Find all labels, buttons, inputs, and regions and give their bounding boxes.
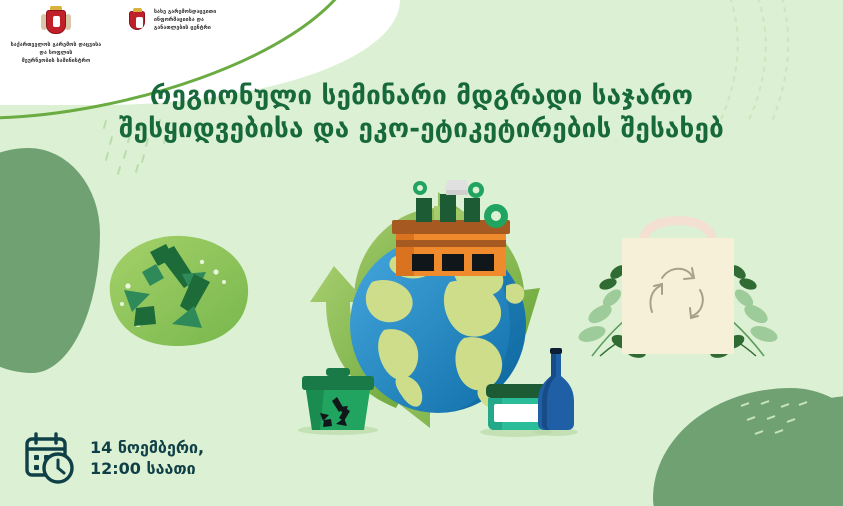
factory-icon <box>392 180 510 276</box>
date-line2: 12:00 საათი <box>90 458 204 479</box>
poster-canvas: საქართველოს გარემოს დაცვისა და სოფლის მე… <box>0 0 843 506</box>
ministry-logo-caption: საქართველოს გარემოს დაცვისა და სოფლის მე… <box>8 42 104 65</box>
page-title-line1: რეგიონული სემინარი მდგრადი საჯარო <box>110 80 733 113</box>
globe-recycling-cycle <box>288 180 588 470</box>
georgia-coat-of-arms-icon <box>128 8 148 34</box>
agency-caption-line2: ინფორმაციისა და <box>154 17 216 25</box>
agency-logo-caption: სახე გარემოსდაცვითი ინფორმაციისა და განა… <box>154 9 216 32</box>
logo-group: საქართველოს გარემოს დაცვისა და სოფლის მე… <box>8 6 216 65</box>
dash-decoration-bottom-right <box>742 398 814 442</box>
date-text: 14 ნოემბერი, 12:00 საათი <box>90 437 204 479</box>
ministry-caption-line2: მეურნეობის სამინისტრო <box>8 58 104 66</box>
ministry-caption-line1: საქართველოს გარემოს დაცვისა და სოფლის <box>8 42 104 58</box>
calendar-clock-icon <box>22 430 78 486</box>
recycle-symbol-emblem <box>98 228 258 358</box>
agency-caption-line1: სახე გარემოსდაცვითი <box>154 9 216 17</box>
agency-caption-line3: განათლების ცენტრი <box>154 25 216 33</box>
decorative-blob-left <box>0 148 100 373</box>
date-badge: 14 ნოემბერი, 12:00 საათი <box>22 430 204 486</box>
eco-tote-bag <box>578 206 778 371</box>
page-title-line2: შესყიდვებისა და ეკო-ეტიკეტირების შესახებ <box>110 113 733 146</box>
bottle-icon <box>534 348 578 436</box>
georgia-coat-of-arms-icon <box>43 6 69 38</box>
shopping-bag-icon <box>622 221 734 355</box>
ministry-of-environment-logo: საქართველოს გარემოს დაცვისა და სოფლის მე… <box>8 6 104 65</box>
national-food-agency-logo: სახე გარემოსდაცვითი ინფორმაციისა და განა… <box>128 6 216 34</box>
date-line1: 14 ნოემბერი, <box>90 437 204 458</box>
page-title: რეგიონული სემინარი მდგრადი საჯარო შესყიდ… <box>0 80 843 147</box>
recycle-bin-icon <box>298 368 378 435</box>
